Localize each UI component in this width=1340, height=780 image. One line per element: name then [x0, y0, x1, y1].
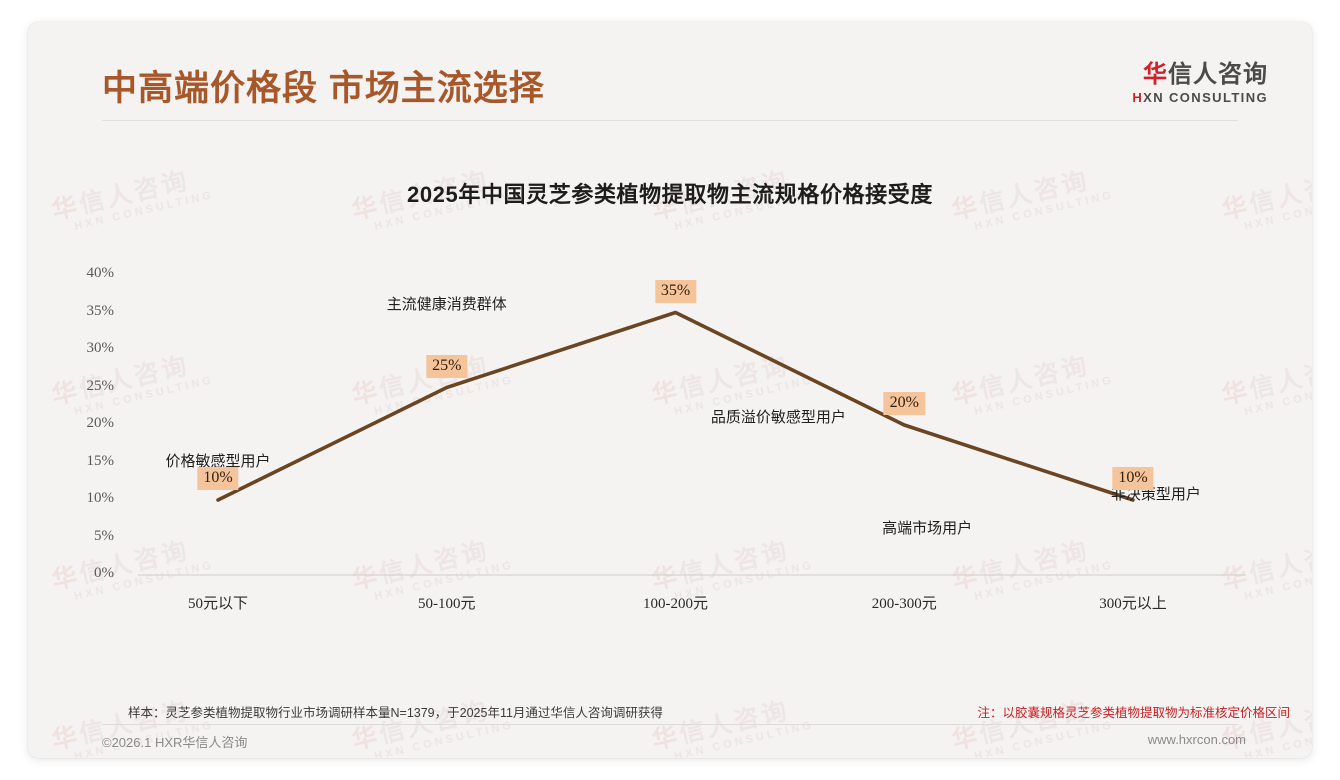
logo-chinese-accent: 华 [1143, 61, 1168, 88]
chart-svg [28, 22, 1312, 758]
y-axis-tick-label: 0% [56, 565, 114, 582]
x-axis-tick-label: 50-100元 [418, 592, 476, 613]
y-axis-tick-label: 35% [56, 303, 114, 320]
chart-annotation: 品质溢价敏感型用户 [711, 406, 846, 427]
y-axis-tick-label: 25% [56, 378, 114, 395]
data-point-label: 25% [426, 355, 467, 378]
data-point-label: 20% [884, 392, 925, 415]
data-point-label: 10% [1112, 467, 1153, 490]
logo-english: HXN CONSULTING [1132, 91, 1268, 105]
slide-header: 中高端价格段 市场主流选择 华信人咨询 HXN CONSULTING [28, 22, 1312, 126]
x-axis-tick-label: 200-300元 [872, 592, 937, 613]
chart-data-line [218, 313, 1133, 501]
x-axis-tick-label: 300元以上 [1099, 592, 1167, 613]
y-axis-tick-label: 15% [56, 453, 114, 470]
x-axis-tick-label: 50元以下 [188, 592, 248, 613]
chart-annotation: 主流健康消费群体 [387, 293, 507, 314]
chart-plot-area: 0%5%10%15%20%25%30%35%40%50元以下50-100元100… [28, 22, 1312, 758]
y-axis-tick-label: 5% [56, 528, 114, 545]
logo-english-accent: H [1132, 90, 1143, 105]
copyright-text: ©2026.1 HXR华信人咨询 [102, 732, 247, 751]
red-note: 注：以胶囊规格灵芝参类植物提取物为标准核定价格区间 [977, 702, 1290, 721]
chart-title: 2025年中国灵芝参类植物提取物主流规格价格接受度 [28, 177, 1312, 209]
page-title: 中高端价格段 市场主流选择 [102, 60, 545, 111]
sample-note: 样本：灵芝参类植物提取物行业市场调研样本量N=1379，于2025年11月通过华… [128, 702, 663, 721]
company-logo: 华信人咨询 HXN CONSULTING [1132, 62, 1268, 105]
header-divider [102, 120, 1238, 121]
chart-annotation: 高端市场用户 [882, 517, 972, 538]
x-axis-tick-label: 100-200元 [643, 592, 708, 613]
data-point-label: 35% [655, 280, 696, 303]
logo-english-rest: XN CONSULTING [1143, 90, 1268, 105]
data-point-label: 10% [197, 467, 238, 490]
y-axis-tick-label: 40% [56, 265, 114, 282]
y-axis-tick-label: 10% [56, 490, 114, 507]
footer-divider [102, 724, 1238, 725]
logo-chinese-rest: 信人咨询 [1168, 61, 1268, 88]
y-axis-tick-label: 20% [56, 415, 114, 432]
website-text: www.hxrcon.com [1148, 732, 1246, 747]
logo-chinese: 华信人咨询 [1132, 62, 1268, 87]
slide-canvas: 华信人咨询HXN CONSULTING华信人咨询HXN CONSULTING华信… [28, 22, 1312, 758]
y-axis-tick-label: 30% [56, 340, 114, 357]
